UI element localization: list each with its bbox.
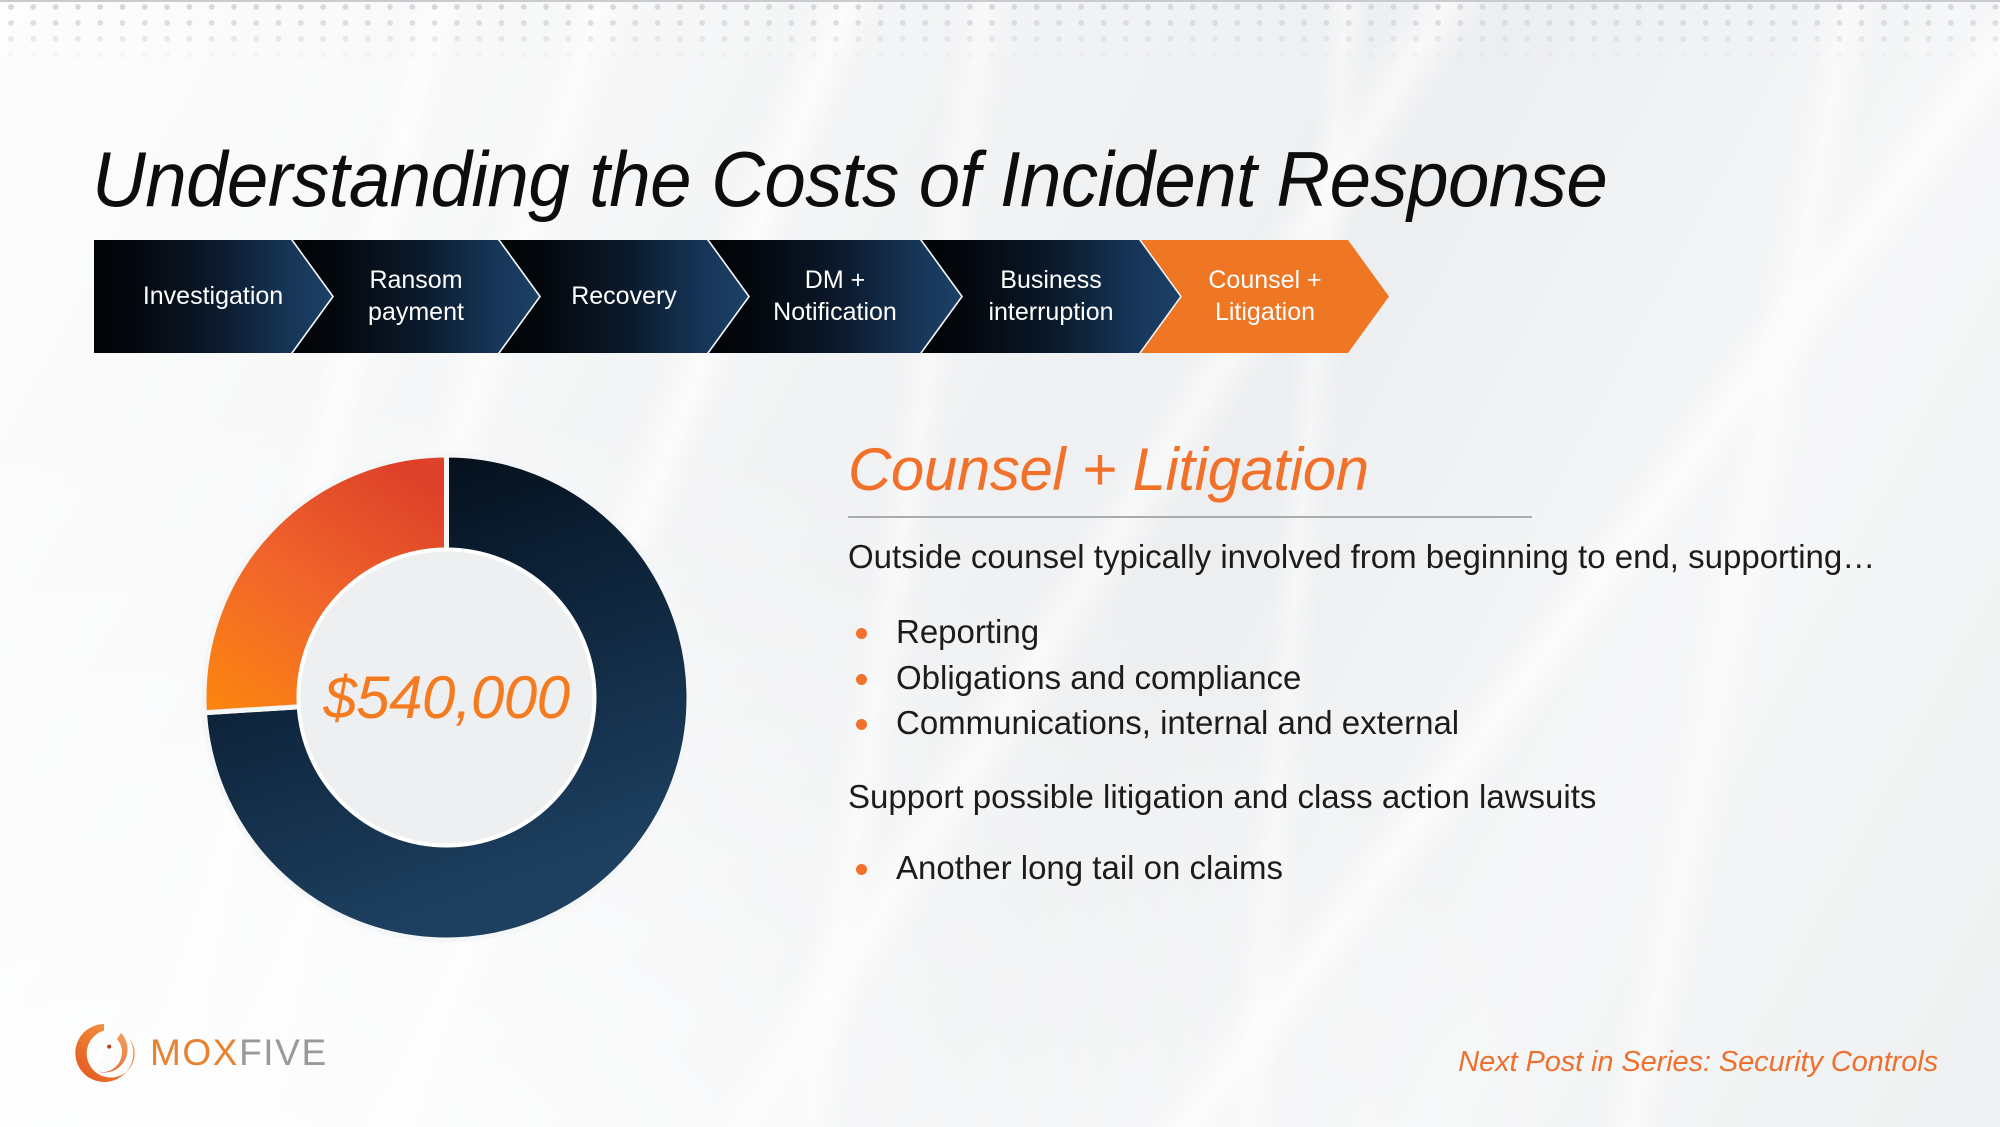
moxfive-logo: MOXFIVE [72, 1021, 328, 1085]
list-item-label: Communications, internal and external [896, 704, 1459, 741]
bullet-dot-icon [856, 719, 867, 730]
process-step-label: Ransom payment [358, 265, 474, 328]
process-step-label: Business interruption [978, 265, 1123, 328]
process-step-label: Recovery [561, 281, 687, 312]
process-step-label: Investigation [133, 281, 293, 312]
slide-canvas: Understanding the Costs of Incident Resp… [0, 0, 2000, 1127]
bullet-dot-icon [856, 864, 867, 875]
moxfive-phoenix-icon [72, 1021, 136, 1085]
moxfive-wordmark: MOXFIVE [150, 1032, 328, 1074]
process-step-investigation[interactable]: Investigation [94, 240, 332, 353]
details-subhead-text: Support possible litigation and class ac… [848, 776, 1938, 818]
details-bullet-list-secondary: Another long tail on claims [848, 848, 1938, 887]
cost-donut-chart: $540,000 [201, 452, 692, 943]
process-step-label: DM + Notification [763, 265, 907, 328]
list-item: Obligations and compliance [848, 658, 1938, 697]
details-lead-text: Outside counsel typically involved from … [848, 536, 1908, 578]
donut-svg [201, 452, 692, 943]
list-item-label: Another long tail on claims [896, 849, 1283, 886]
list-item-label: Obligations and compliance [896, 659, 1301, 696]
list-item: Communications, internal and external [848, 703, 1938, 742]
next-post-label: Next Post in Series: Security Controls [1458, 1046, 1938, 1079]
details-heading: Counsel + Litigation [848, 440, 1938, 500]
details-panel: Counsel + Litigation Outside counsel typ… [848, 440, 1938, 922]
process-step-label: Counsel + Litigation [1198, 265, 1331, 328]
halftone-dot-band [0, 0, 2000, 66]
top-rule [0, 0, 2000, 2]
bullet-dot-icon [856, 674, 867, 685]
bullet-dot-icon [856, 628, 867, 639]
slide-title: Understanding the Costs of Incident Resp… [92, 134, 1607, 225]
logo-text-mox: MOX [150, 1032, 239, 1073]
heading-divider [848, 516, 1532, 518]
process-chevron-row: Investigation Ransom payment Recovery DM… [94, 240, 1350, 353]
details-bullet-list: Reporting Obligations and compliance Com… [848, 612, 1938, 742]
list-item: Reporting [848, 612, 1938, 651]
list-item-label: Reporting [896, 613, 1039, 650]
logo-text-five: FIVE [239, 1032, 328, 1073]
list-item: Another long tail on claims [848, 848, 1938, 887]
